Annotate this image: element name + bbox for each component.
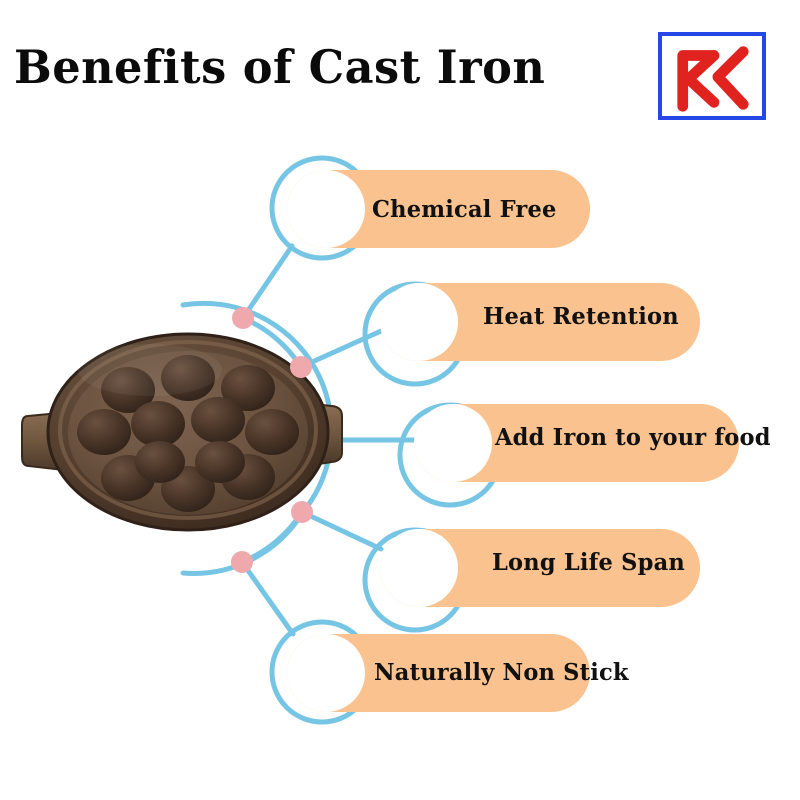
- benefit-bullet-2: [380, 283, 458, 361]
- benefit-label-long-life-span: Long Life Span: [492, 549, 685, 576]
- benefit-label-add-iron-to-food: Add Iron to your food: [495, 424, 771, 451]
- connector-branch-4: [302, 512, 381, 549]
- benefit-label-naturally-non-stick: Naturally Non Stick: [374, 659, 629, 686]
- connector-branch-1: [243, 246, 292, 318]
- junction-dot-3: [291, 501, 313, 523]
- pan-sheen: [78, 344, 222, 396]
- benefit-bullet-5: [287, 634, 365, 712]
- infographic-canvas: Benefits of Cast Iron: [0, 0, 800, 800]
- benefit-bullet-4: [380, 529, 458, 607]
- benefit-label-chemical-free: Chemical Free: [372, 196, 557, 223]
- benefit-item-heat-retention[interactable]: [365, 283, 700, 384]
- junction-dot-2: [290, 356, 312, 378]
- junction-dot-4: [231, 551, 253, 573]
- benefit-bullet-3: [414, 404, 492, 482]
- connector-branch-5: [242, 562, 293, 634]
- junction-dot-1: [232, 307, 254, 329]
- benefit-item-add-iron-to-food[interactable]: [400, 404, 739, 505]
- benefit-bullet-1: [287, 170, 365, 248]
- benefit-label-heat-retention: Heat Retention: [483, 303, 679, 330]
- benefit-item-long-life-span[interactable]: [365, 529, 700, 630]
